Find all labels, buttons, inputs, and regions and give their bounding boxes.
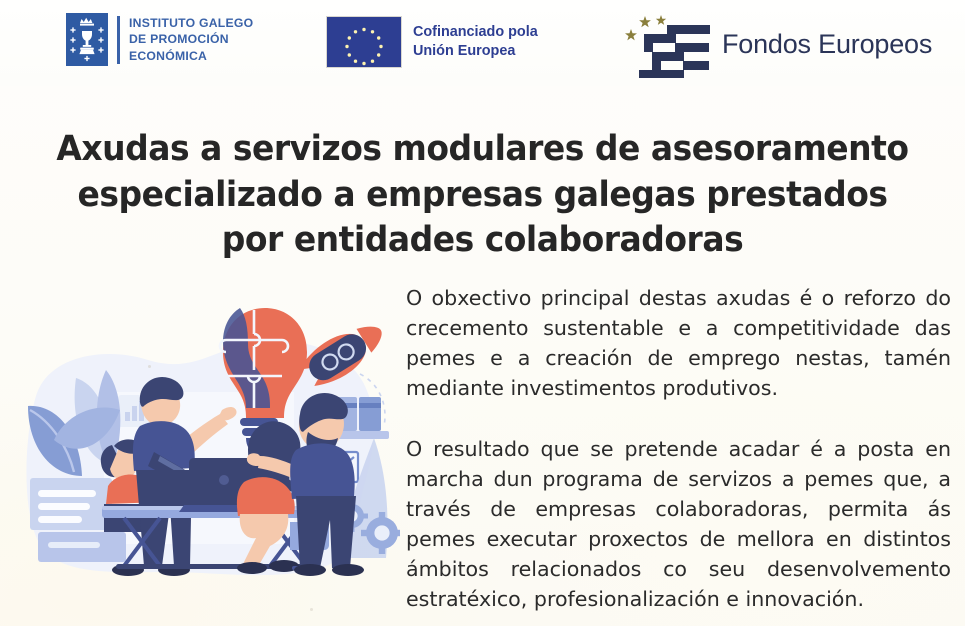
paragraph-result: O resultado que se pretende acadar é a p…: [406, 434, 951, 615]
logo-bar: INSTITUTO GALEGO DE PROMOCIÓN ECONÓMICA: [0, 0, 965, 86]
fondos-europeos-logo-label: Fondos Europeos: [722, 31, 932, 58]
fondos-europeos-logo: Fondos Europeos: [620, 10, 932, 78]
fondos-europeos-stairs-icon: [620, 10, 712, 78]
european-union-logo: Cofinanciado pola Unión Europea: [326, 16, 538, 68]
paragraph-objective: O obxectivo principal destas axudas é o …: [406, 283, 951, 404]
logo-divider: [117, 16, 120, 64]
scan-speck: [148, 365, 151, 368]
page-title: Axudas a servizos modulares de asesorame…: [45, 127, 921, 264]
body-copy: O obxectivo principal destas axudas é o …: [406, 283, 951, 615]
igape-logo-label: INSTITUTO GALEGO DE PROMOCIÓN ECONÓMICA: [129, 15, 253, 63]
european-union-logo-label: Cofinanciado pola Unión Europea: [413, 23, 538, 60]
scan-speck: [310, 608, 313, 611]
team-collaboration-illustration: [8, 300, 400, 600]
poster-page: INSTITUTO GALEGO DE PROMOCIÓN ECONÓMICA: [0, 0, 965, 626]
igape-logo: INSTITUTO GALEGO DE PROMOCIÓN ECONÓMICA: [66, 13, 253, 66]
european-union-flag-icon: [326, 16, 402, 68]
xunta-de-galicia-crest-icon: [66, 13, 108, 66]
